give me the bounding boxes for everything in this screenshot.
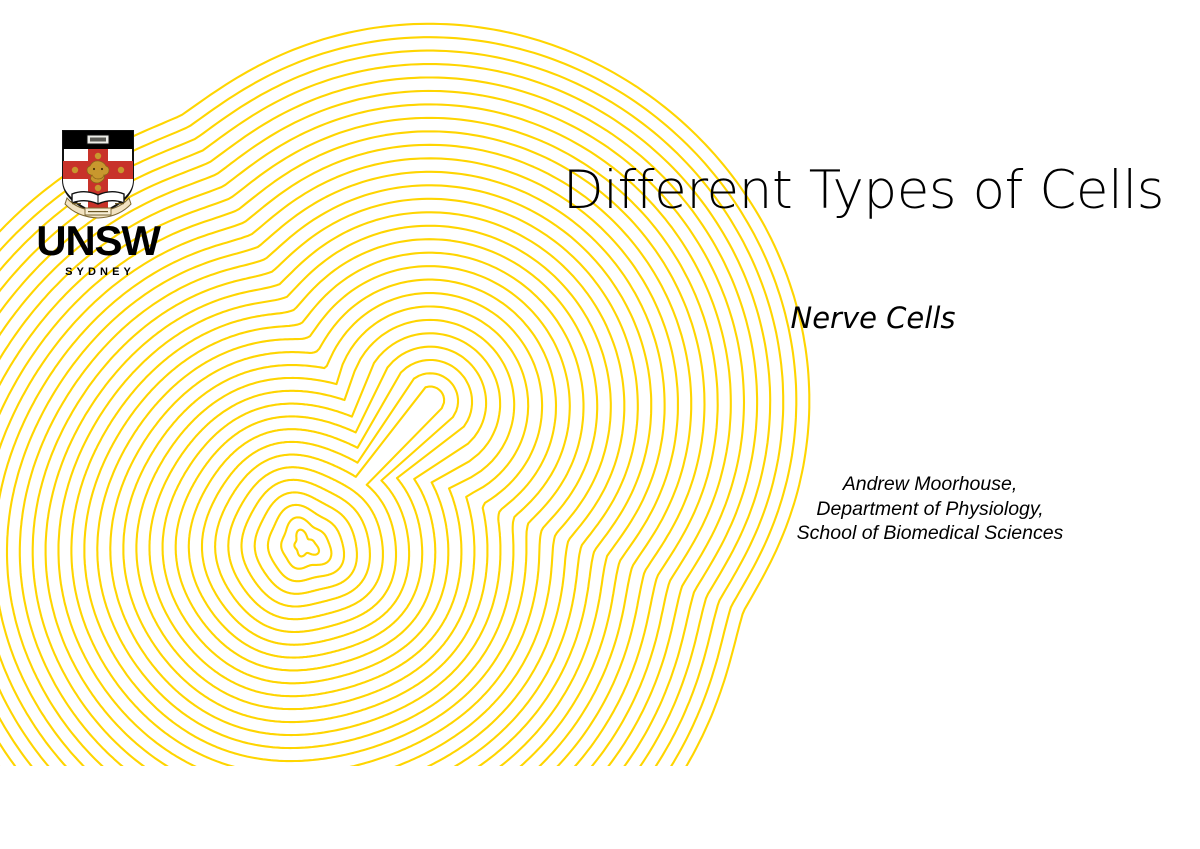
unsw-sub-wordmark: SYDNEY <box>30 266 166 278</box>
unsw-logo: UNSW SYDNEY <box>30 128 166 274</box>
concentric-rings-graphic <box>0 0 1200 849</box>
slide-canvas: UNSW SYDNEY Different Types of Cells Ner… <box>0 0 1200 849</box>
author-block: Andrew Moorhouse, Department of Physiolo… <box>730 472 1130 546</box>
author-department: Department of Physiology, <box>730 497 1130 522</box>
unsw-wordmark: UNSW <box>30 220 166 262</box>
slide-subtitle: Nerve Cells <box>693 299 1053 337</box>
author-name: Andrew Moorhouse, <box>730 472 1130 497</box>
author-school: School of Biomedical Sciences <box>730 521 1130 546</box>
slide-title: Different Types of Cells <box>500 160 1164 222</box>
unsw-crest-icon <box>59 128 137 220</box>
